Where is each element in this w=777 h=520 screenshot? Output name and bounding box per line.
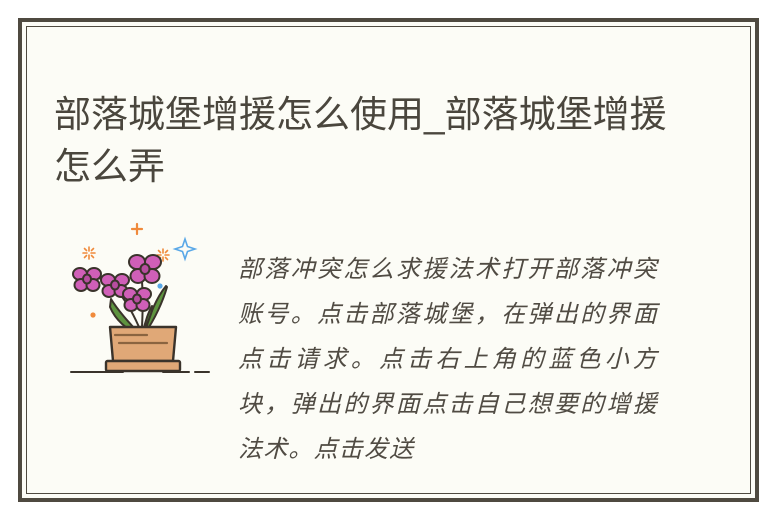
article-card: 部落城堡增援怎么使用_部落城堡增援怎么弄 [18,18,759,502]
flower-pot [106,327,180,371]
orchid-flowers-group [73,255,161,311]
page-title: 部落城堡增援怎么使用_部落城堡增援怎么弄 [54,89,684,193]
article-content: 部落冲突怎么求援法术打开部落冲突账号。点击部落城堡，在弹出的界面点击请求。点击右… [27,203,750,483]
article-body-text: 部落冲突怎么求援法术打开部落冲突账号。点击部落城堡，在弹出的界面点击请求。点击右… [238,247,658,472]
potted-orchid-plant-illustration [63,215,213,385]
article-card-inner-border: 部落城堡增援怎么使用_部落城堡增援怎么弄 [26,26,751,494]
